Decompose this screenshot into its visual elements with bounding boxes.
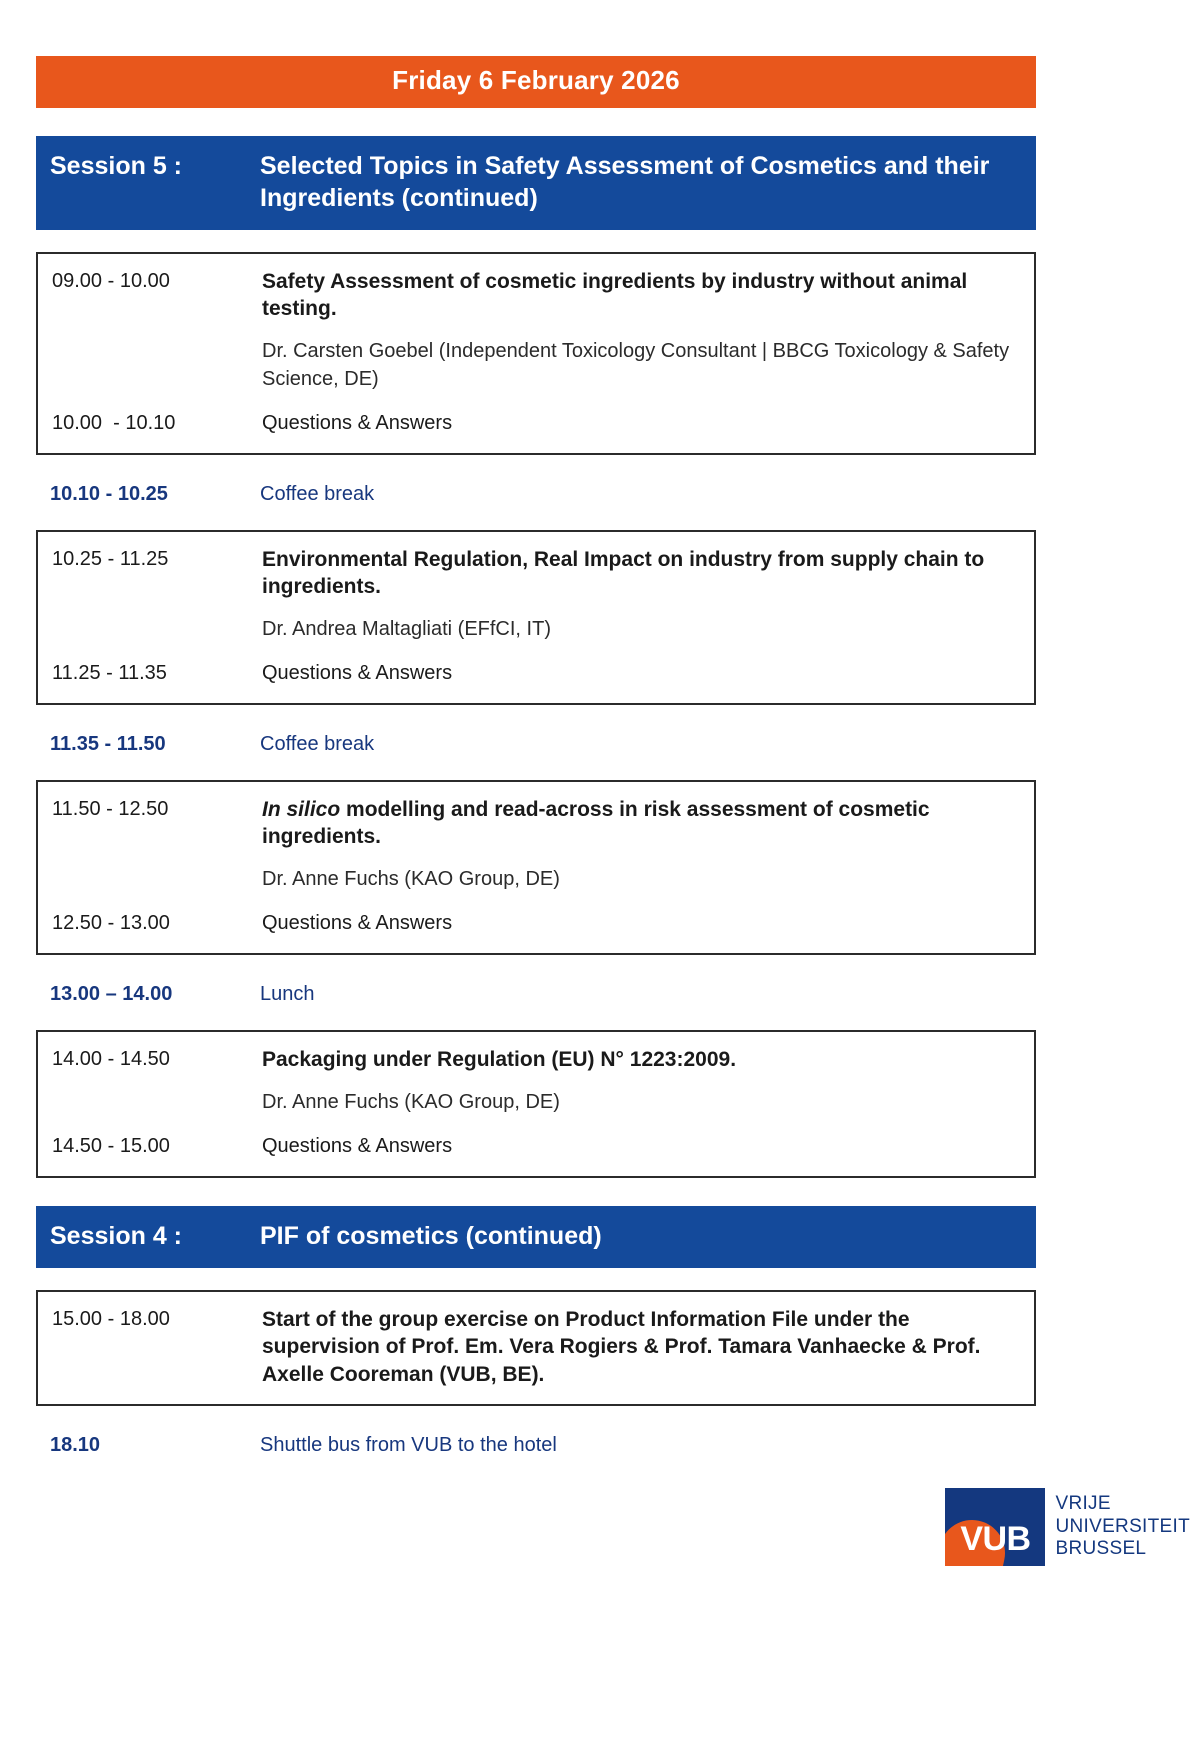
qa-label: Questions & Answers [262, 660, 1020, 687]
vub-word-line-3: BRUSSEL [1055, 1538, 1190, 1560]
qa-label: Questions & Answers [262, 1133, 1020, 1160]
program-block-5: 15.00 - 18.00 Start of the group exercis… [36, 1290, 1036, 1406]
qa-time: 11.25 - 11.35 [52, 660, 262, 687]
talk-title: In silico modelling and read-across in r… [262, 796, 1020, 851]
program-block-3: 11.50 - 12.50 In silico modelling and re… [36, 780, 1036, 955]
talk-title: Start of the group exercise on Product I… [262, 1306, 1020, 1388]
talk-body: Packaging under Regulation (EU) N° 1223:… [262, 1046, 1020, 1117]
talk-time: 10.25 - 11.25 [52, 546, 262, 573]
qa-row: 11.25 - 11.35 Questions & Answers [52, 660, 1020, 687]
session-4-label: Session 4 : [50, 1220, 260, 1252]
talk-time: 15.00 - 18.00 [52, 1306, 262, 1333]
talk-row: 14.00 - 14.50 Packaging under Regulation… [52, 1046, 1020, 1117]
talk-speaker: Dr. Anne Fuchs (KAO Group, DE) [262, 1089, 1020, 1117]
talk-body: Safety Assessment of cosmetic ingredient… [262, 268, 1020, 394]
talk-speaker: Dr. Andrea Maltagliati (EFfCI, IT) [262, 616, 1020, 644]
session-banner-4: Session 4 : PIF of cosmetics (continued) [36, 1206, 1036, 1268]
vub-word-line-1: VRIJE [1055, 1493, 1190, 1515]
talk-body: Environmental Regulation, Real Impact on… [262, 546, 1020, 644]
talk-time: 11.50 - 12.50 [52, 796, 262, 823]
talk-title: Packaging under Regulation (EU) N° 1223:… [262, 1046, 1020, 1073]
date-banner: Friday 6 February 2026 [36, 56, 1036, 108]
program-block-4: 14.00 - 14.50 Packaging under Regulation… [36, 1030, 1036, 1178]
qa-time: 10.00 - 10.10 [52, 410, 262, 437]
break-row-coffee-2: 11.35 - 11.50 Coffee break [36, 731, 1036, 758]
session-banner-5: Session 5 : Selected Topics in Safety As… [36, 136, 1036, 230]
vub-logo: VUB VRIJE UNIVERSITEIT BRUSSEL [945, 1488, 1190, 1566]
break-time: 13.00 – 14.00 [50, 981, 260, 1008]
break-time: 11.35 - 11.50 [50, 731, 260, 758]
vub-logo-mark: VUB [945, 1488, 1045, 1566]
talk-speaker: Dr. Anne Fuchs (KAO Group, DE) [262, 866, 1020, 894]
program-page: Friday 6 February 2026 Session 5 : Selec… [36, 0, 1036, 1463]
qa-row: 14.50 - 15.00 Questions & Answers [52, 1133, 1020, 1160]
talk-time: 14.00 - 14.50 [52, 1046, 262, 1073]
talk-title: Environmental Regulation, Real Impact on… [262, 546, 1020, 601]
break-row-lunch: 13.00 – 14.00 Lunch [36, 981, 1036, 1008]
talk-title-italic: In silico [262, 798, 340, 821]
program-block-2: 10.25 - 11.25 Environmental Regulation, … [36, 530, 1036, 705]
break-label: Shuttle bus from VUB to the hotel [260, 1432, 1036, 1459]
talk-body: Start of the group exercise on Product I… [262, 1306, 1020, 1388]
break-time: 18.10 [50, 1432, 260, 1459]
talk-row: 11.50 - 12.50 In silico modelling and re… [52, 796, 1020, 894]
break-label: Coffee break [260, 731, 1036, 758]
qa-time: 14.50 - 15.00 [52, 1133, 262, 1160]
talk-title: Safety Assessment of cosmetic ingredient… [262, 268, 1020, 323]
break-row-shuttle: 18.10 Shuttle bus from VUB to the hotel [36, 1432, 1036, 1459]
qa-row: 10.00 - 10.10 Questions & Answers [52, 410, 1020, 437]
program-block-1: 09.00 - 10.00 Safety Assessment of cosme… [36, 252, 1036, 455]
talk-title-rest: modelling and read-across in risk assess… [262, 798, 930, 848]
session-5-label: Session 5 : [50, 150, 260, 182]
break-label: Coffee break [260, 481, 1036, 508]
vub-logo-text: VUB [945, 1522, 1045, 1556]
talk-body: In silico modelling and read-across in r… [262, 796, 1020, 894]
qa-time: 12.50 - 13.00 [52, 910, 262, 937]
talk-row: 15.00 - 18.00 Start of the group exercis… [52, 1306, 1020, 1388]
talk-time: 09.00 - 10.00 [52, 268, 262, 295]
break-label: Lunch [260, 981, 1036, 1008]
break-row-coffee-1: 10.10 - 10.25 Coffee break [36, 481, 1036, 508]
qa-row: 12.50 - 13.00 Questions & Answers [52, 910, 1020, 937]
vub-logo-wordmark: VRIJE UNIVERSITEIT BRUSSEL [1045, 1488, 1190, 1566]
vub-word-line-2: UNIVERSITEIT [1055, 1516, 1190, 1538]
qa-label: Questions & Answers [262, 910, 1020, 937]
break-time: 10.10 - 10.25 [50, 481, 260, 508]
qa-label: Questions & Answers [262, 410, 1020, 437]
talk-speaker: Dr. Carsten Goebel (Independent Toxicolo… [262, 338, 1020, 393]
session-5-title: Selected Topics in Safety Assessment of … [260, 150, 1022, 214]
session-4-title: PIF of cosmetics (continued) [260, 1220, 1022, 1252]
talk-row: 09.00 - 10.00 Safety Assessment of cosme… [52, 268, 1020, 394]
talk-row: 10.25 - 11.25 Environmental Regulation, … [52, 546, 1020, 644]
